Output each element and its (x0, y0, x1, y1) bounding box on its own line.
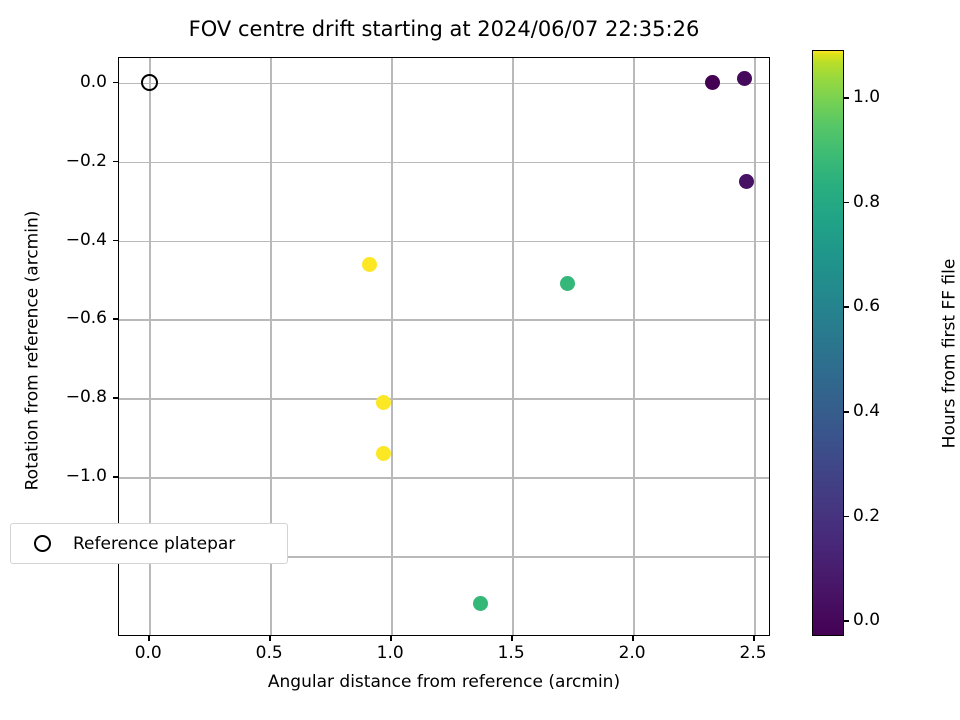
colorbar-tick-label: 0.2 (853, 506, 880, 526)
chart-figure: FOV centre drift starting at 2024/06/07 … (0, 0, 960, 720)
scatter-point (705, 75, 720, 90)
scatter-point (739, 174, 754, 189)
reference-platepar-icon (34, 535, 51, 552)
x-tick-mark (753, 636, 755, 641)
x-tick-label: 1.5 (481, 643, 541, 663)
x-tick-mark (269, 636, 271, 641)
scatter-point (376, 446, 391, 461)
x-tick-label: 0.0 (118, 643, 178, 663)
colorbar-label: Hours from first FF file (940, 94, 960, 614)
colorbar-tick-label: 0.0 (853, 610, 880, 630)
colorbar-tick-mark (844, 306, 849, 308)
colorbar-tick-label: 0.8 (853, 192, 880, 212)
colorbar-tick-label: 0.6 (853, 296, 880, 316)
y-tick-mark (113, 318, 118, 320)
y-tick-mark (113, 82, 118, 84)
y-tick-mark (113, 161, 118, 163)
y-tick-mark (113, 397, 118, 399)
y-tick-label: 0.0 (33, 72, 107, 92)
legend: Reference platepar (10, 523, 288, 564)
x-tick-mark (390, 636, 392, 641)
colorbar-tick-label: 1.0 (853, 87, 880, 107)
x-tick-label: 2.5 (723, 643, 783, 663)
x-tick-label: 0.5 (239, 643, 299, 663)
scatter-point (362, 257, 377, 272)
y-tick-label: −1.0 (33, 466, 107, 486)
y-tick-label: −0.6 (33, 308, 107, 328)
colorbar-tick-mark (844, 620, 849, 622)
x-tick-mark (632, 636, 634, 641)
scatter-point (560, 276, 575, 291)
x-axis-label: Angular distance from reference (arcmin) (118, 672, 770, 693)
scatter-point (737, 71, 752, 86)
reference-platepar-marker (141, 74, 158, 91)
y-tick-label: −0.8 (33, 387, 107, 407)
colorbar (812, 50, 844, 636)
y-tick-label: −0.2 (33, 151, 107, 171)
colorbar-tick-mark (844, 97, 849, 99)
x-tick-mark (511, 636, 513, 641)
legend-entry-label: Reference platepar (73, 534, 235, 554)
scatter-point (473, 596, 488, 611)
colorbar-gradient (812, 50, 844, 636)
colorbar-tick-label: 0.4 (853, 401, 880, 421)
colorbar-tick-mark (844, 516, 849, 518)
scatter-point (376, 395, 391, 410)
x-tick-label: 2.0 (602, 643, 662, 663)
x-tick-mark (148, 636, 150, 641)
y-tick-label: −0.4 (33, 230, 107, 250)
y-tick-mark (113, 240, 118, 242)
colorbar-tick-mark (844, 411, 849, 413)
legend-marker-wrap (11, 535, 73, 552)
y-tick-mark (113, 476, 118, 478)
colorbar-tick-mark (844, 202, 849, 204)
chart-title: FOV centre drift starting at 2024/06/07 … (118, 16, 770, 42)
x-tick-label: 1.0 (360, 643, 420, 663)
